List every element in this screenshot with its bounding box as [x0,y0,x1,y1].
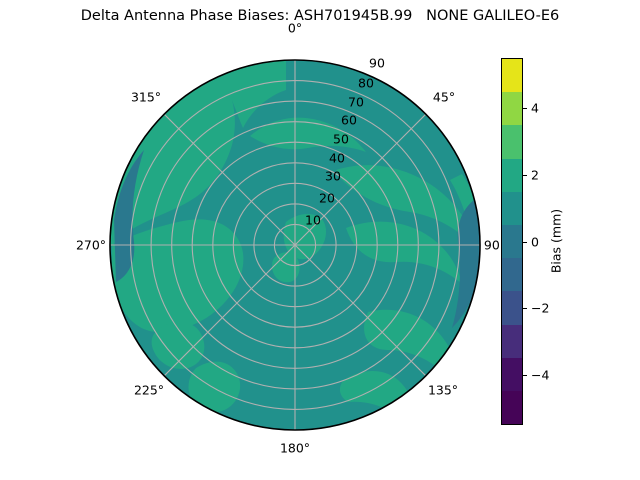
colorbar-band-6 [502,192,522,225]
radial-label-20: 20 [319,191,335,206]
radial-label-30: 30 [325,169,341,184]
colorbar-axis-label: Bias (mm) [549,209,564,273]
colorbar-tick-label-4: 4 [531,101,539,116]
figure-canvas: Delta Antenna Phase Biases: ASH701945B.9… [0,0,640,480]
colorbar-tick-mark-neg4 [523,375,527,376]
colorbar-tick-label-neg2: −2 [531,301,549,316]
radial-label-60: 60 [341,113,357,128]
colorbar-band-1 [502,358,522,391]
azimuth-label-45: 45° [433,90,455,105]
colorbar[interactable]: 4 2 0 −2 −4 [501,58,523,425]
radial-label-70: 70 [348,95,364,110]
azimuth-label-135: 135° [428,383,458,398]
polar-axes[interactable]: 0° 45° 90° 135° 180° 225° 270° 315° 10 2… [100,50,490,440]
colorbar-gradient [501,58,523,425]
colorbar-band-2 [502,325,522,358]
colorbar-band-10 [502,59,522,92]
radial-label-40: 40 [329,151,345,166]
radial-label-50: 50 [333,132,349,147]
colorbar-band-4 [502,258,522,291]
radial-label-80: 80 [358,76,374,91]
colorbar-tick-label-0: 0 [531,234,539,249]
colorbar-tick-label-neg4: −4 [531,368,549,383]
colorbar-band-8 [502,125,522,158]
azimuth-label-0: 0° [288,21,302,36]
radial-label-10: 10 [305,213,321,228]
colorbar-tick-mark-0 [523,242,527,243]
polar-plot-svg [100,50,490,440]
page-title: Delta Antenna Phase Biases: ASH701945B.9… [0,8,640,24]
colorbar-tick-mark-4 [523,108,527,109]
radial-label-90: 90 [369,56,385,71]
azimuth-label-225: 225° [134,383,164,398]
colorbar-tick-mark-2 [523,175,527,176]
colorbar-band-5 [502,225,522,258]
colorbar-band-9 [502,92,522,125]
azimuth-label-270: 270° [76,238,106,253]
polar-angular-gridlines [110,60,480,430]
colorbar-band-7 [502,159,522,192]
azimuth-label-315: 315° [131,90,161,105]
azimuth-label-180: 180° [280,441,310,456]
colorbar-tick-mark-neg2 [523,308,527,309]
colorbar-band-0 [502,391,522,424]
colorbar-band-3 [502,291,522,324]
colorbar-tick-label-2: 2 [531,167,539,182]
